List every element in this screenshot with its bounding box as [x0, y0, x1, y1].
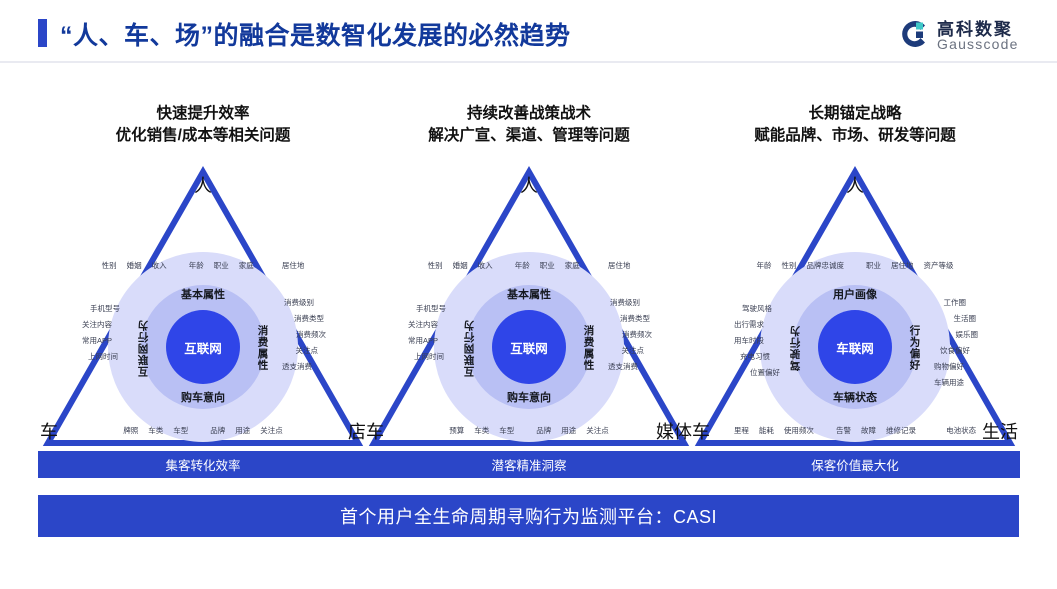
ring-core-label-3: 车联网 — [836, 338, 874, 357]
micro-chip: 职业 — [540, 260, 555, 271]
micro-chip: 饮食偏好 — [934, 345, 970, 356]
micro-bottom-1-row1: 牌照车类车型 — [118, 425, 193, 436]
micro-chip: 居住地 — [608, 260, 631, 271]
micro-chip: 品牌 — [536, 425, 551, 436]
micro-labels-left-1: 手机型号 关注内容 常用APP 上网时间 — [80, 298, 120, 367]
gausscode-mark-icon — [899, 18, 931, 50]
micro-chip: 里程 — [734, 425, 749, 436]
column-heading-3: 长期锚定战略 赋能品牌、市场、研发等问题 — [690, 103, 1020, 147]
micro-labels-top-1: 性别婚姻收入 年龄职业家庭 居住地 — [92, 260, 315, 271]
column-heading-2-line2: 解决广宣、渠道、管理等问题 — [364, 125, 694, 147]
ring-core-1: 互联网 — [166, 310, 240, 384]
micro-chip: 家庭 — [239, 260, 254, 271]
micro-chip: 驾驶风格 — [742, 303, 780, 314]
micro-labels-bottom-2: 预算车类车型 品牌用途关注点 — [439, 425, 619, 436]
column-heading-2: 持续改善战策战术 解决广宣、渠道、管理等问题 — [364, 103, 694, 147]
micro-labels-top-3: 年龄性别品牌忠诚度 职业居住地资产等级 — [746, 260, 963, 271]
micro-bottom-1-row2: 品牌用途关注点 — [205, 425, 288, 436]
triangle-2-bottom-left-label: 车 — [366, 418, 384, 444]
micro-chip: 生活圈 — [934, 313, 976, 324]
title-accent-bar — [38, 19, 47, 47]
micro-labels-right-2: 消费级别 消费类型 消费频次 关注点 透支消费 — [608, 292, 652, 377]
ring-mid-right-label-3: 行为偏好 — [906, 304, 924, 392]
micro-chip: 能耗 — [759, 425, 774, 436]
micro-chip: 居住地 — [282, 260, 305, 271]
ring-mid-left-label-1: 互联网行为 — [134, 304, 152, 392]
micro-chip: 消费类型 — [282, 313, 324, 324]
outcome-bar-3[interactable]: 保客价值最大化 — [690, 451, 1020, 478]
micro-chip: 车类 — [474, 425, 489, 436]
micro-chip: 牌照 — [123, 425, 138, 436]
micro-chip: 预算 — [449, 425, 464, 436]
micro-chip: 常用APP — [408, 335, 446, 346]
outcome-bar-1-label: 集客转化效率 — [165, 455, 240, 474]
micro-chip: 关注点 — [608, 345, 644, 356]
ring-mid-right-label-1: 消费属性 — [254, 304, 272, 392]
micro-chip: 性别 — [428, 260, 443, 271]
micro-top-1-row2: 年龄职业家庭 — [184, 260, 259, 271]
micro-chip: 常用APP — [82, 335, 120, 346]
micro-chip: 透支消费 — [608, 361, 638, 372]
ring-mid-top-label-3: 用户画像 — [760, 286, 950, 302]
micro-chip: 出行需求 — [734, 319, 780, 330]
ring-mid-top-label-2: 基本属性 — [434, 286, 624, 302]
micro-labels-bottom-3: 里程能耗使用频次 告警故障维修记录 电池状态 — [724, 425, 986, 436]
triangle-panel-1: 人 车 店 性别婚姻收入 年龄职业家庭 居住地 手机型号 关注内容 常用APP — [38, 160, 368, 450]
micro-chip: 品牌 — [210, 425, 225, 436]
micro-bottom-3-row3: 电池状态 — [933, 425, 981, 436]
triangle-2-apex-label: 人 — [520, 172, 538, 198]
micro-chip: 消费类型 — [608, 313, 650, 324]
triangle-panel-3: 人 车 生活 年龄性别品牌忠诚度 职业居住地资产等级 驾驶风格 出行需求 用车时… — [690, 160, 1020, 450]
column-heading-1-line1: 快速提升效率 — [38, 103, 368, 125]
micro-chip: 用途 — [235, 425, 250, 436]
ring-core-label-1: 互联网 — [184, 338, 222, 357]
micro-chip: 关注点 — [586, 425, 609, 436]
micro-labels-left-3: 驾驶风格 出行需求 用车时段 充电习惯 位置偏好 — [732, 298, 780, 383]
micro-top-1-row3: 居住地 — [271, 260, 310, 271]
micro-chip: 消费频次 — [282, 329, 326, 340]
platform-summary-label: 首个用户全生命周期寻购行为监测平台：CASI — [340, 503, 717, 529]
column-heading-3-line1: 长期锚定战略 — [690, 103, 1020, 125]
micro-top-1-row1: 性别婚姻收入 — [97, 260, 172, 271]
micro-chip: 家庭 — [565, 260, 580, 271]
micro-chip: 关注内容 — [408, 319, 446, 330]
micro-chip: 年龄 — [515, 260, 530, 271]
ring-mid-left-label-3: 驾驶行为 — [786, 304, 804, 392]
brand-logo: 高科数聚 Gausscode — [899, 14, 1039, 56]
micro-chip: 手机型号 — [90, 303, 120, 314]
micro-top-3-row2: 职业居住地资产等级 — [861, 260, 959, 271]
micro-chip: 性别 — [102, 260, 117, 271]
micro-bottom-2-row2: 品牌用途关注点 — [531, 425, 614, 436]
outcome-bar-1[interactable]: 集客转化效率 — [38, 451, 368, 478]
micro-chip: 关注内容 — [82, 319, 120, 330]
triangle-3-apex-label: 人 — [846, 172, 864, 198]
micro-chip: 充电习惯 — [740, 351, 780, 362]
micro-labels-bottom-1: 牌照车类车型 品牌用途关注点 — [113, 425, 293, 436]
micro-bottom-2-row1: 预算车类车型 — [444, 425, 519, 436]
ring-core-label-2: 互联网 — [510, 338, 548, 357]
column-heading-1: 快速提升效率 优化销售/成本等相关问题 — [38, 103, 368, 147]
triangle-panel-2: 人 车 媒体 性别婚姻收入 年龄职业家庭 居住地 手机型号 关注内容 常用APP — [364, 160, 694, 450]
micro-chip: 故障 — [861, 425, 876, 436]
slide-root: “人、车、场”的融合是数智化发展的必然趋势 高科数聚 Gausscode 快速提… — [0, 0, 1057, 589]
micro-chip: 透支消费 — [282, 361, 312, 372]
micro-chip: 收入 — [478, 260, 493, 271]
micro-chip: 上网时间 — [414, 351, 446, 362]
micro-chip: 告警 — [836, 425, 851, 436]
outcome-bar-2[interactable]: 潜客精准洞察 — [364, 451, 694, 478]
micro-chip: 手机型号 — [416, 303, 446, 314]
micro-chip: 年龄 — [189, 260, 204, 271]
micro-chip: 消费频次 — [608, 329, 652, 340]
micro-chip: 娱乐圈 — [934, 329, 978, 340]
micro-top-2-row1: 性别婚姻收入 — [423, 260, 498, 271]
micro-chip: 用车时段 — [734, 335, 780, 346]
micro-chip: 资产等级 — [924, 260, 954, 271]
outcome-bar-2-label: 潜客精准洞察 — [491, 455, 566, 474]
ring-diagram-2: 性别婚姻收入 年龄职业家庭 居住地 手机型号 关注内容 常用APP 上网时间 消… — [434, 252, 624, 442]
micro-labels-top-2: 性别婚姻收入 年龄职业家庭 居住地 — [418, 260, 641, 271]
ring-mid-top-label-1: 基本属性 — [108, 286, 298, 302]
ring-mid-left-label-2: 互联网行为 — [460, 304, 478, 392]
ring-core-3: 车联网 — [818, 310, 892, 384]
micro-chip: 职业 — [866, 260, 881, 271]
micro-chip: 年龄 — [756, 260, 771, 271]
micro-chip: 婚姻 — [127, 260, 142, 271]
micro-labels-right-1: 消费级别 消费类型 消费频次 关注点 透支消费 — [282, 292, 326, 377]
micro-chip: 车类 — [148, 425, 163, 436]
micro-chip: 品牌忠诚度 — [806, 260, 844, 271]
triangle-2-bottom-right-label: 媒体 — [656, 418, 692, 444]
micro-chip: 位置偏好 — [750, 367, 780, 378]
micro-chip: 车辆用途 — [934, 377, 964, 388]
slide-header: “人、车、场”的融合是数智化发展的必然趋势 高科数聚 Gausscode — [0, 0, 1057, 62]
micro-chip: 关注点 — [282, 345, 318, 356]
micro-chip: 职业 — [214, 260, 229, 271]
ring-diagram-3: 年龄性别品牌忠诚度 职业居住地资产等级 驾驶风格 出行需求 用车时段 充电习惯 … — [760, 252, 950, 442]
micro-bottom-3-row1: 里程能耗使用频次 — [729, 425, 819, 436]
column-heading-1-line2: 优化销售/成本等相关问题 — [38, 125, 368, 147]
micro-chip: 电池状态 — [946, 425, 976, 436]
micro-chip: 收入 — [152, 260, 167, 271]
ring-diagram-1: 性别婚姻收入 年龄职业家庭 居住地 手机型号 关注内容 常用APP 上网时间 消… — [108, 252, 298, 442]
column-heading-3-line2: 赋能品牌、市场、研发等问题 — [690, 125, 1020, 147]
micro-chip: 购物偏好 — [934, 361, 964, 372]
micro-chip: 上网时间 — [88, 351, 120, 362]
ring-mid-right-label-2: 消费属性 — [580, 304, 598, 392]
header-divider — [0, 61, 1057, 63]
triangle-1-bottom-left-label: 车 — [40, 418, 58, 444]
outcome-bar-3-label: 保客价值最大化 — [811, 455, 899, 474]
ring-core-2: 互联网 — [492, 310, 566, 384]
triangle-3-bottom-left-label: 车 — [692, 418, 710, 444]
page-title: “人、车、场”的融合是数智化发展的必然趋势 — [60, 16, 571, 52]
micro-chip: 使用频次 — [784, 425, 814, 436]
micro-chip: 维修记录 — [886, 425, 916, 436]
micro-chip: 居住地 — [891, 260, 914, 271]
micro-bottom-3-row2: 告警故障维修记录 — [831, 425, 921, 436]
platform-summary-bar[interactable]: 首个用户全生命周期寻购行为监测平台：CASI — [38, 495, 1019, 537]
micro-chip: 用途 — [561, 425, 576, 436]
micro-labels-right-3: 工作圈 生活圈 娱乐圈 饮食偏好 购物偏好 车辆用途 — [934, 292, 978, 393]
triangle-1-apex-label: 人 — [194, 172, 212, 198]
micro-chip: 关注点 — [260, 425, 283, 436]
micro-chip: 车型 — [173, 425, 188, 436]
column-heading-2-line1: 持续改善战策战术 — [364, 103, 694, 125]
micro-top-2-row2: 年龄职业家庭 — [510, 260, 585, 271]
triangle-3-bottom-right-label: 生活 — [982, 418, 1018, 444]
micro-top-2-row3: 居住地 — [597, 260, 636, 271]
logo-name-en: Gausscode — [937, 36, 1019, 52]
micro-labels-left-2: 手机型号 关注内容 常用APP 上网时间 — [406, 298, 446, 367]
micro-chip: 车型 — [499, 425, 514, 436]
micro-top-3-row1: 年龄性别品牌忠诚度 — [751, 260, 849, 271]
micro-chip: 婚姻 — [453, 260, 468, 271]
micro-chip: 性别 — [781, 260, 796, 271]
